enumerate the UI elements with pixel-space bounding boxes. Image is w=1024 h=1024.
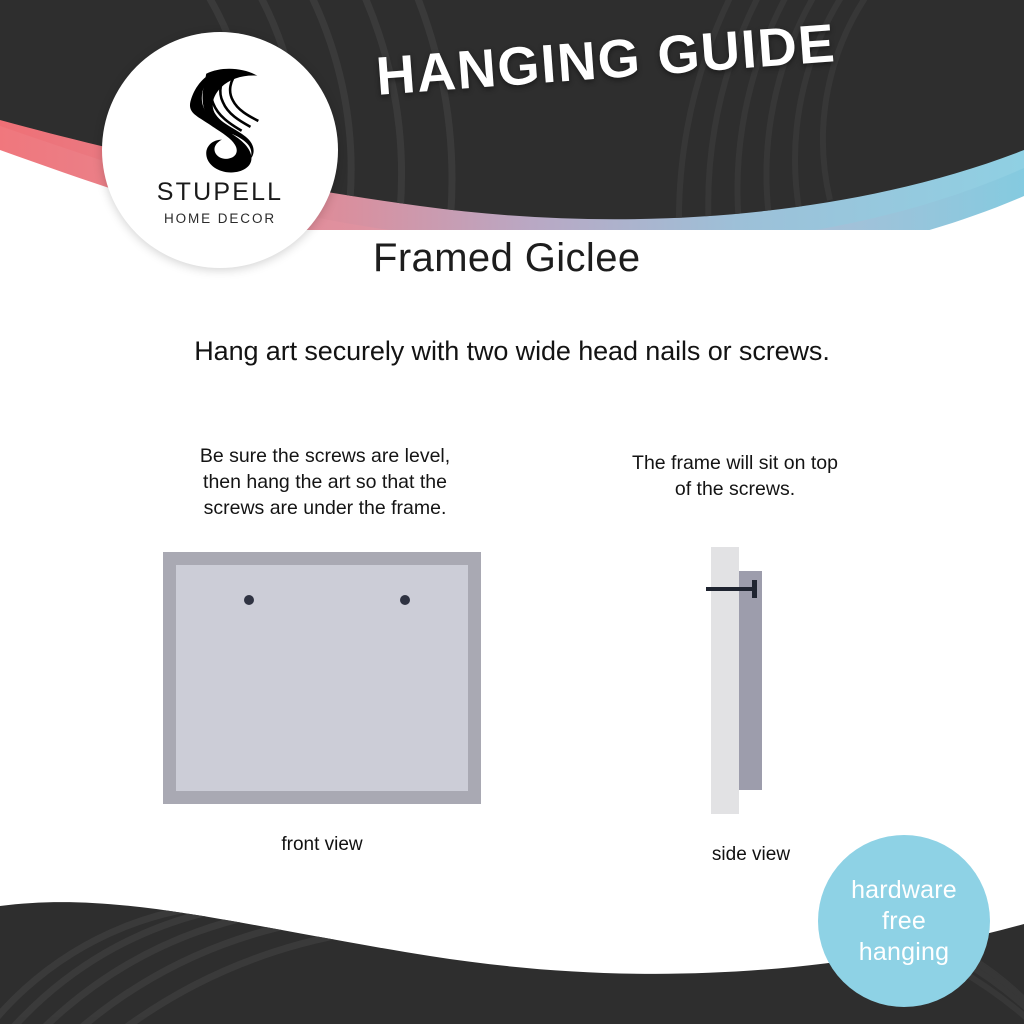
badge-line-3: hanging — [859, 937, 949, 968]
screw-dot-right — [400, 595, 410, 605]
nail-shaft-icon — [706, 587, 756, 591]
front-caption-line-3: screws are under the frame. — [120, 495, 530, 521]
nail-head-icon — [752, 580, 757, 598]
front-caption-line-2: then hang the art so that the — [120, 469, 530, 495]
brand-tagline: HOME DECOR — [164, 212, 276, 226]
frame-inner-panel — [176, 565, 468, 791]
side-view-diagram — [706, 547, 796, 814]
side-view-label: side view — [661, 844, 841, 866]
stupell-s-swoosh-logo-icon — [161, 58, 279, 176]
front-view-frame-diagram — [163, 552, 481, 804]
side-view-caption: The frame will sit on top of the screws. — [570, 450, 900, 502]
front-caption-line-1: Be sure the screws are level, — [120, 443, 530, 469]
front-view-label: front view — [163, 834, 481, 856]
main-instruction-text: Hang art securely with two wide head nai… — [0, 336, 1024, 367]
badge-line-2: free — [882, 906, 926, 937]
product-type-label: Framed Giclee — [373, 238, 641, 278]
front-view-caption-block: Be sure the screws are level, then hang … — [120, 443, 530, 521]
screw-dot-left — [244, 595, 254, 605]
side-caption-line-1: The frame will sit on top — [570, 450, 900, 476]
side-view-caption-block: The frame will sit on top of the screws. — [570, 450, 900, 502]
side-caption-line-2: of the screws. — [570, 476, 900, 502]
front-view-caption: Be sure the screws are level, then hang … — [120, 443, 530, 521]
frame-profile — [739, 571, 762, 790]
hanging-guide-page: HANGING GUIDE STUPELL HOME DECOR Framed … — [0, 0, 1024, 1024]
badge-line-1: hardware — [851, 875, 957, 906]
brand-logo-badge: STUPELL HOME DECOR — [102, 32, 338, 268]
hardware-free-hanging-badge: hardware free hanging — [818, 835, 990, 1007]
brand-name: STUPELL — [157, 180, 284, 205]
